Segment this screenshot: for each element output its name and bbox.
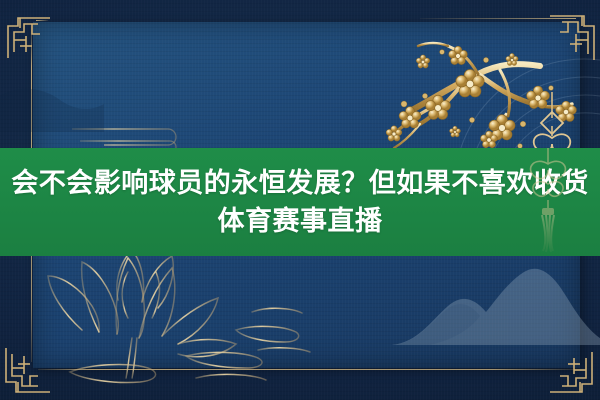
corner-ornament-top-left — [6, 14, 52, 60]
corner-ornament-bottom-left — [4, 346, 52, 394]
corner-ornament-top-right — [544, 10, 596, 62]
corner-ornament-bottom-right — [548, 350, 594, 396]
banner-image: 会不会影响球员的永恒发展？但如果不喜欢收货体育赛事直播 — [0, 0, 600, 400]
gold-rule-bottom — [38, 369, 574, 370]
title-band: 会不会影响球员的永恒发展？但如果不喜欢收货体育赛事直播 — [0, 148, 600, 256]
banner-title: 会不会影响球员的永恒发展？但如果不喜欢收货体育赛事直播 — [0, 164, 600, 241]
